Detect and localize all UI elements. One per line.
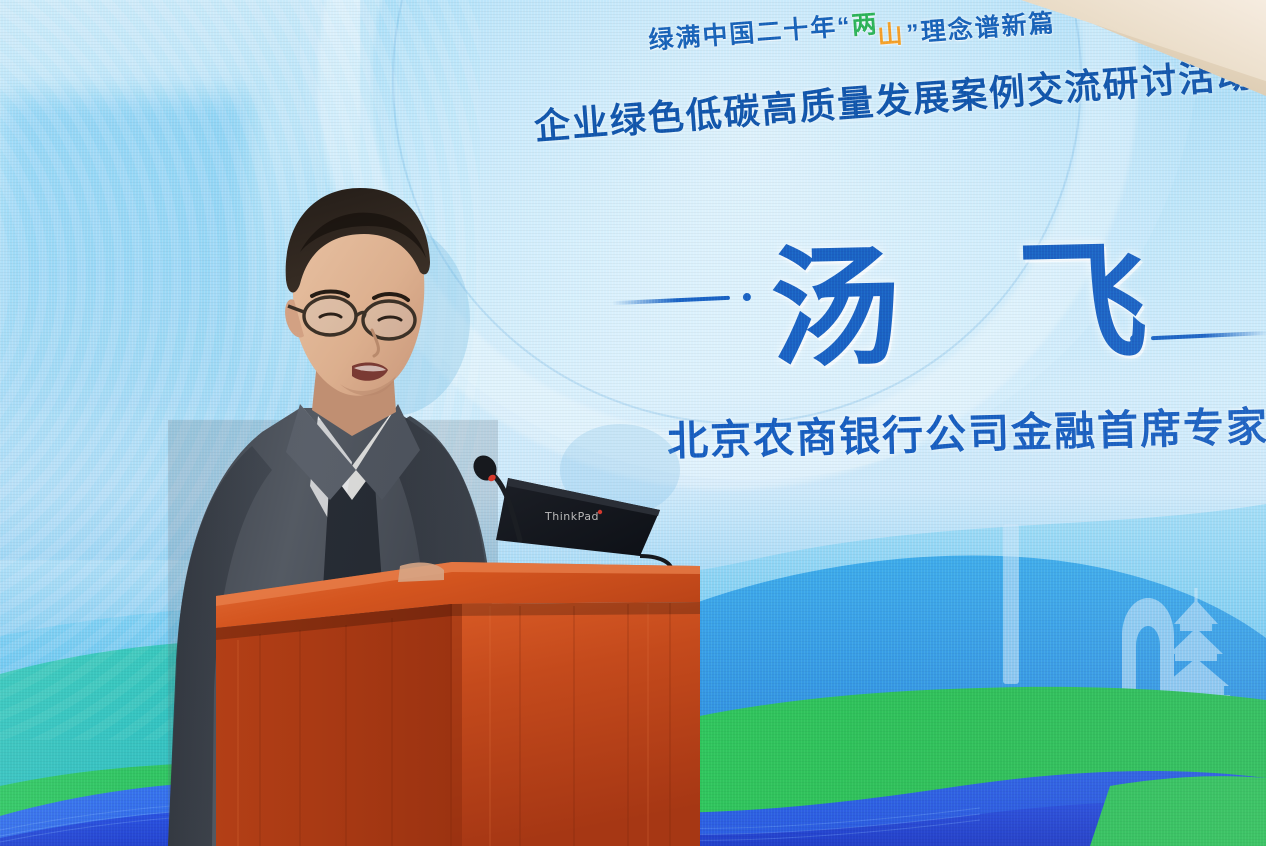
conference-photo-stage: 绿满中国二十年“两山”理念谱新篇 企业绿色低碳高质量发展案例交流研讨活动 汤 飞… xyxy=(0,0,1266,846)
screen-sheen xyxy=(0,0,1266,846)
